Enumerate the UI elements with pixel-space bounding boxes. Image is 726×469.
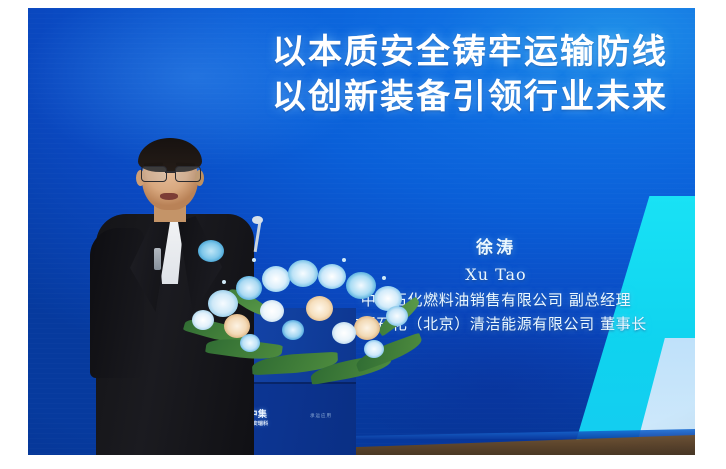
podium-side-text: 承运应用 [310,413,332,419]
eyeglasses-icon [140,166,200,181]
person-mouth [160,193,178,200]
eyeglass-lens-right [175,166,201,182]
conference-photo: 以本质安全铸牢运输防线 以创新装备引领行业未来 徐涛 Xu Tao 中国石化燃料… [28,8,695,455]
headline-line-1: 以本质安全铸牢运输防线 [272,30,692,75]
eyeglass-lens-left [141,166,167,182]
microphone-head [252,216,263,224]
person-left-shoulder [90,228,144,378]
floral-arrangement [178,236,440,396]
eyeglass-bridge [165,171,175,173]
screenshot-page: 以本质安全铸牢运输防线 以创新装备引领行业未来 徐涛 Xu Tao 中国石化燃料… [0,0,726,469]
person-lanyard-badge [154,248,161,270]
stage-headline: 以本质安全铸牢运输防线 以创新装备引领行业未来 [272,30,692,120]
headline-line-2: 以创新装备引领行业未来 [272,75,692,120]
